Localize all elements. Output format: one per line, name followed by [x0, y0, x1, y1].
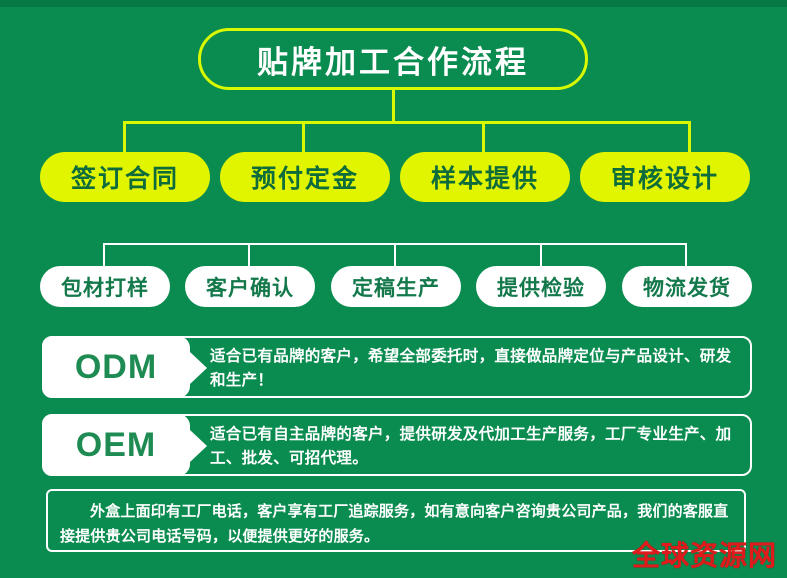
- connector-tier1-bar: [123, 121, 691, 124]
- page-title: 贴牌加工合作流程: [257, 37, 529, 82]
- tier2-step-3-label: 定稿生产: [352, 272, 440, 302]
- mode-arrow-odm-icon: [190, 352, 207, 384]
- tier2-step-1-label: 包材打样: [61, 272, 149, 302]
- tier1-step-4[interactable]: 审核设计: [580, 152, 750, 202]
- tier2-step-2-label: 客户确认: [206, 272, 294, 302]
- tier2-step-5[interactable]: 物流发货: [622, 266, 752, 307]
- tier2-step-4-label: 提供检验: [497, 272, 585, 302]
- connector-title-stem: [392, 90, 395, 123]
- connector-tier1-drop-2: [302, 121, 305, 154]
- watermark: 全球资源网: [632, 534, 777, 574]
- tier2-step-2[interactable]: 客户确认: [185, 266, 315, 307]
- tier1-step-4-label: 审核设计: [611, 159, 719, 195]
- tier1-step-3-label: 样本提供: [431, 159, 539, 195]
- mode-description-odm: 适合已有品牌的客户，希望全部委托时，直接做品牌定位与产品设计、研发和生产！: [210, 345, 744, 393]
- tier2-step-4[interactable]: 提供检验: [476, 266, 606, 307]
- connector-tier1-drop-3: [482, 121, 485, 154]
- title-badge: 贴牌加工合作流程: [198, 28, 588, 90]
- connector-tier1-drop-4: [688, 121, 691, 154]
- connector-tier1-drop-1: [123, 121, 126, 154]
- mode-tag-odm-label: ODM: [75, 348, 157, 387]
- mode-row-oem: OEM 适合已有自主品牌的客户，提供研发及代加工生产服务，工厂专业生产、加工、批…: [42, 414, 752, 476]
- tier2-step-5-label: 物流发货: [643, 272, 731, 302]
- tier2-step-1[interactable]: 包材打样: [40, 266, 170, 307]
- mode-tag-odm: ODM: [42, 336, 190, 398]
- tier1-step-3[interactable]: 样本提供: [400, 152, 570, 202]
- mode-description-oem: 适合已有自主品牌的客户，提供研发及代加工生产服务，工厂专业生产、加工、批发、可招…: [210, 423, 744, 471]
- mode-row-odm: ODM 适合已有品牌的客户，希望全部委托时，直接做品牌定位与产品设计、研发和生产…: [42, 336, 752, 398]
- tier1-step-1[interactable]: 签订合同: [40, 152, 210, 202]
- poster-canvas: 贴牌加工合作流程 签订合同 预付定金 样本提供 审核设计 包材打样 客户确认 定…: [0, 0, 787, 578]
- tier1-step-2[interactable]: 预付定金: [220, 152, 390, 202]
- mode-tag-oem: OEM: [42, 414, 190, 476]
- tier1-step-1-label: 签订合同: [71, 159, 179, 195]
- tier1-step-2-label: 预付定金: [251, 159, 359, 195]
- tier2-step-3[interactable]: 定稿生产: [331, 266, 461, 307]
- mode-arrow-oem-icon: [190, 430, 207, 462]
- top-edge-strip: [0, 0, 787, 7]
- mode-tag-oem-label: OEM: [76, 426, 156, 465]
